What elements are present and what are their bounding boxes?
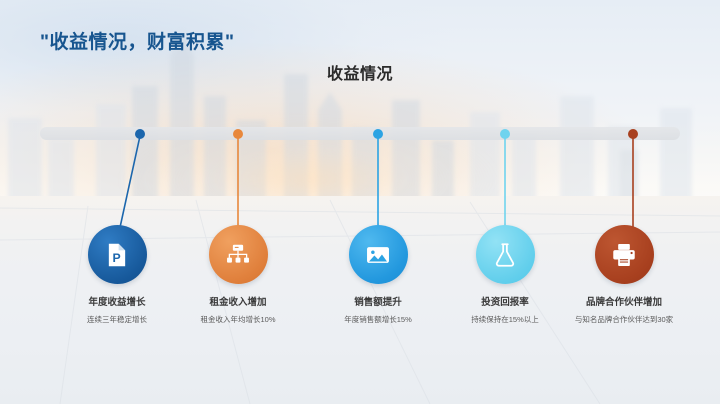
metric-label: 租金收入增加 [163,297,313,310]
metric-item-rental-income[interactable]: 租金收入增加 租金收入年均增长10% [163,225,313,326]
metric-item-brand-partners[interactable]: 品牌合作伙伴增加 与知名品牌合作伙伴达到30家 [549,225,699,326]
svg-text:P: P [112,251,120,265]
metric-desc: 与知名品牌合作伙伴达到30家 [549,315,699,326]
slide-canvas: "收益情况，财富积累" 收益情况 P 年度收益增长 连续三年稳定增长 [0,0,720,404]
timeline-bar [40,127,680,140]
metric-desc: 租金收入年均增长10% [163,315,313,326]
page-headline: "收益情况，财富积累" [40,27,235,54]
image-icon [349,225,408,284]
metric-label: 品牌合作伙伴增加 [549,297,699,310]
sitemap-icon [209,225,268,284]
powerpoint-file-icon: P [88,225,147,284]
flask-icon [476,225,535,284]
printer-icon [595,225,654,284]
page-title: 收益情况 [0,60,720,84]
